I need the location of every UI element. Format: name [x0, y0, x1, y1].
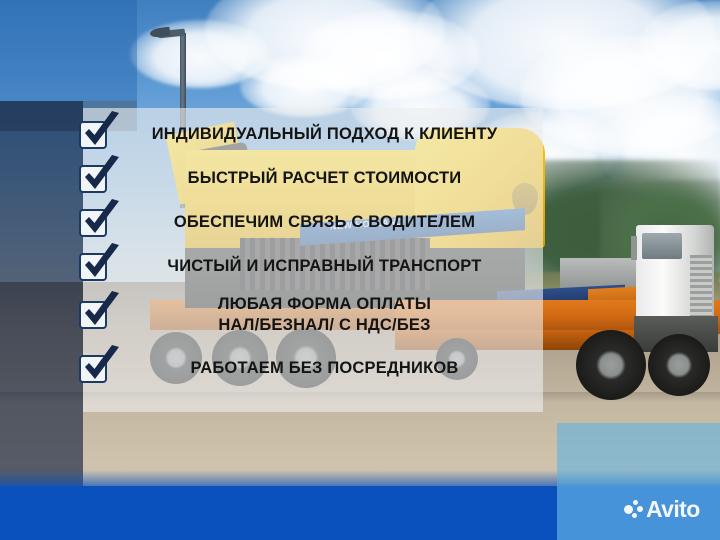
list-item: ИНДИВИДУАЛЬНЫЙ ПОДХОД К КЛИЕНТУ [0, 118, 560, 152]
list-item-label: ИНДИВИДУАЛЬНЫЙ ПОДХОД К КЛИЕНТУ [107, 124, 560, 145]
checkbox-icon [79, 121, 107, 149]
list-item: ЛЮБАЯ ФОРМА ОПЛАТЫ НАЛ/БЕЗНАЛ/ С НДС/БЕЗ [0, 290, 560, 340]
checkbox-icon [79, 253, 107, 281]
list-item: ОБЕСПЕЧИМ СВЯЗЬ С ВОДИТЕЛЕМ [0, 206, 560, 240]
overlay-top-left-blue [0, 0, 137, 101]
avito-watermark: Avito [624, 498, 700, 521]
checkbox-icon [79, 209, 107, 237]
list-item: БЫСТРЫЙ РАСЧЕТ СТОИМОСТИ [0, 162, 560, 196]
list-item-label: ЧИСТЫЙ И ИСПРАВНЫЙ ТРАНСПОРТ [107, 256, 560, 277]
list-item-label: БЫСТРЫЙ РАСЧЕТ СТОИМОСТИ [107, 168, 560, 189]
promo-banner: NEW HOLLAND ИНДИВИДУ [0, 0, 720, 540]
list-item-label: РАБОТАЕМ БЕЗ ПОСРЕДНИКОВ [107, 358, 560, 379]
checkbox-icon [79, 301, 107, 329]
features-checklist: ИНДИВИДУАЛЬНЫЙ ПОДХОД К КЛИЕНТУ БЫСТРЫЙ … [0, 108, 720, 412]
list-item: ЧИСТЫЙ И ИСПРАВНЫЙ ТРАНСПОРТ [0, 250, 560, 284]
checkbox-icon [79, 355, 107, 383]
list-item-label: ЛЮБАЯ ФОРМА ОПЛАТЫ НАЛ/БЕЗНАЛ/ С НДС/БЕЗ [107, 294, 560, 336]
list-item: РАБОТАЕМ БЕЗ ПОСРЕДНИКОВ [0, 352, 560, 386]
avito-wordmark: Avito [646, 498, 700, 521]
list-item-label: ОБЕСПЕЧИМ СВЯЗЬ С ВОДИТЕЛЕМ [107, 212, 560, 233]
avito-dots-logo-icon [624, 500, 643, 519]
checkbox-icon [79, 165, 107, 193]
